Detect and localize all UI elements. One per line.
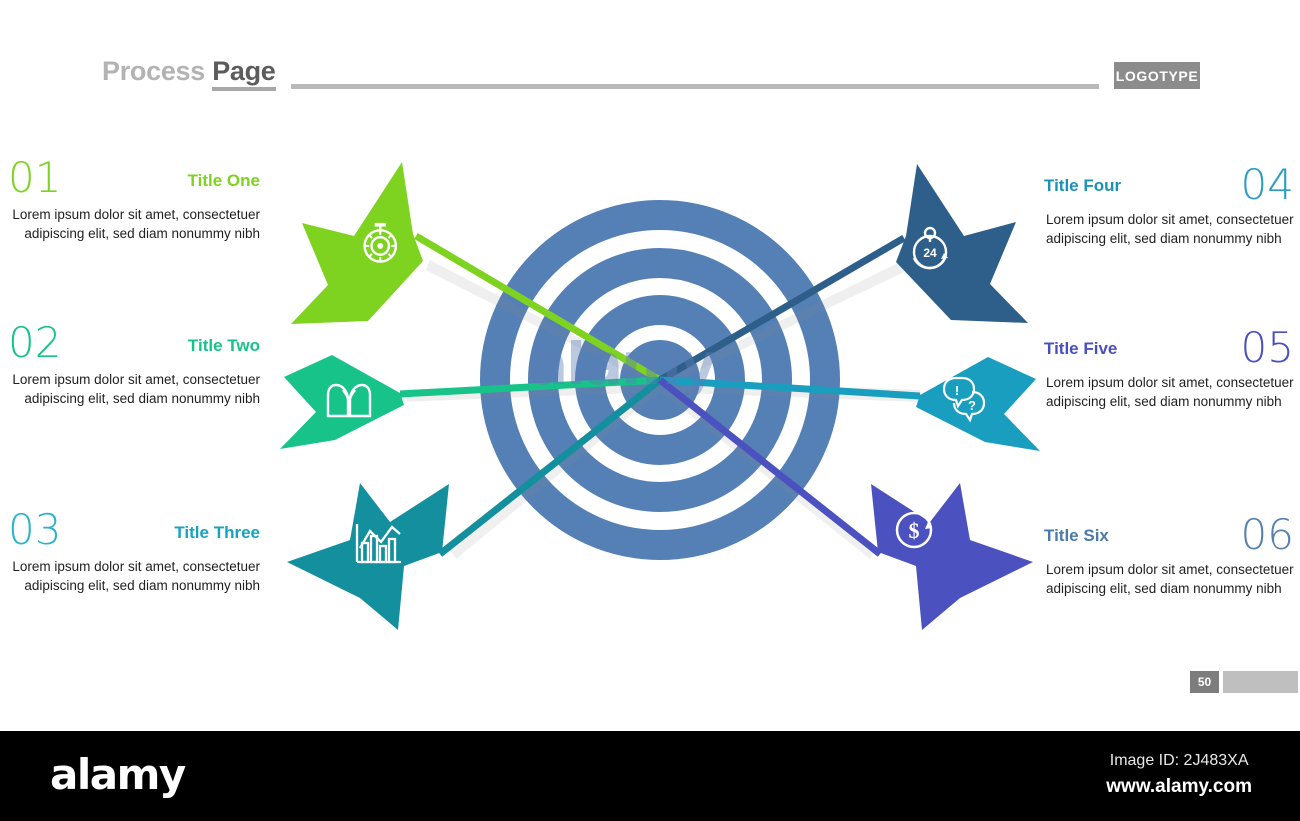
svg-text:24: 24 — [923, 246, 937, 260]
item-02-title: Title Two — [188, 337, 260, 354]
page-title-light: Process — [102, 56, 212, 86]
footer-meta: Image ID: 2J483XA www.alamy.com — [1106, 749, 1252, 802]
page-title-dark: Page — [212, 56, 275, 91]
alamy-logo: alamy — [50, 750, 185, 799]
item-02-head: 02 Title Two — [0, 322, 262, 368]
page-title: Process Page — [102, 56, 276, 87]
page-number-bar — [1223, 671, 1298, 693]
item-05-number: 05 — [1241, 327, 1294, 369]
item-02-body: Lorem ipsum dolor sit amet, consectetuer… — [0, 370, 262, 408]
item-03-body: Lorem ipsum dolor sit amet, consectetuer… — [0, 557, 262, 595]
item-04-body: Lorem ipsum dolor sit amet, consectetuer… — [1038, 210, 1300, 248]
arrow-05-head — [916, 357, 1040, 451]
arrow-02-head — [280, 355, 404, 449]
item-05-head: 05 Title Five — [1038, 325, 1300, 371]
slide-page: Process Page LOGOTYPE 01 Title One Lorem… — [0, 0, 1300, 821]
process-item-04[interactable]: 04 Title Four Lorem ipsum dolor sit amet… — [1038, 162, 1300, 248]
slide-header: Process Page LOGOTYPE — [0, 0, 1300, 110]
target-arrows-diagram: 24 ! ? — [280, 150, 1040, 650]
item-05-title: Title Five — [1044, 340, 1117, 357]
process-item-01[interactable]: 01 Title One Lorem ipsum dolor sit amet,… — [0, 157, 262, 243]
arrow-06-head — [871, 483, 1033, 630]
header-divider — [291, 84, 1099, 89]
image-id-text: Image ID: 2J483XA — [1106, 749, 1252, 773]
item-04-title: Title Four — [1044, 177, 1121, 194]
page-number-badge: 50 — [1190, 671, 1219, 693]
alamy-footer: alamy Image ID: 2J483XA www.alamy.com — [0, 731, 1300, 821]
process-item-02[interactable]: 02 Title Two Lorem ipsum dolor sit amet,… — [0, 322, 262, 408]
item-06-head: 06 Title Six — [1038, 512, 1300, 558]
item-05-body: Lorem ipsum dolor sit amet, consectetuer… — [1038, 373, 1300, 411]
item-04-head: 04 Title Four — [1038, 162, 1300, 208]
item-02-number: 02 — [8, 322, 61, 364]
svg-text:$: $ — [909, 518, 920, 543]
item-06-title: Title Six — [1044, 527, 1109, 544]
item-03-head: 03 Title Three — [0, 509, 262, 555]
item-03-title: Title Three — [174, 524, 260, 541]
process-item-06[interactable]: 06 Title Six Lorem ipsum dolor sit amet,… — [1038, 512, 1300, 598]
slide-canvas: Process Page LOGOTYPE 01 Title One Lorem… — [0, 0, 1300, 731]
process-item-03[interactable]: 03 Title Three Lorem ipsum dolor sit ame… — [0, 509, 262, 595]
svg-text:!: ! — [955, 383, 959, 398]
item-04-number: 04 — [1241, 164, 1294, 206]
process-item-05[interactable]: 05 Title Five Lorem ipsum dolor sit amet… — [1038, 325, 1300, 411]
item-06-number: 06 — [1241, 514, 1294, 556]
item-06-body: Lorem ipsum dolor sit amet, consectetuer… — [1038, 560, 1300, 598]
logotype-badge: LOGOTYPE — [1114, 62, 1200, 89]
item-03-number: 03 — [8, 509, 61, 551]
svg-text:?: ? — [968, 398, 976, 413]
item-01-head: 01 Title One — [0, 157, 262, 203]
alamy-url-text: www.alamy.com — [1106, 773, 1252, 802]
item-01-title: Title One — [188, 172, 260, 189]
arrow-01-head — [291, 162, 423, 324]
item-01-body: Lorem ipsum dolor sit amet, consectetuer… — [0, 205, 262, 243]
item-01-number: 01 — [8, 157, 61, 199]
page-number-group: 50 — [1190, 671, 1298, 693]
